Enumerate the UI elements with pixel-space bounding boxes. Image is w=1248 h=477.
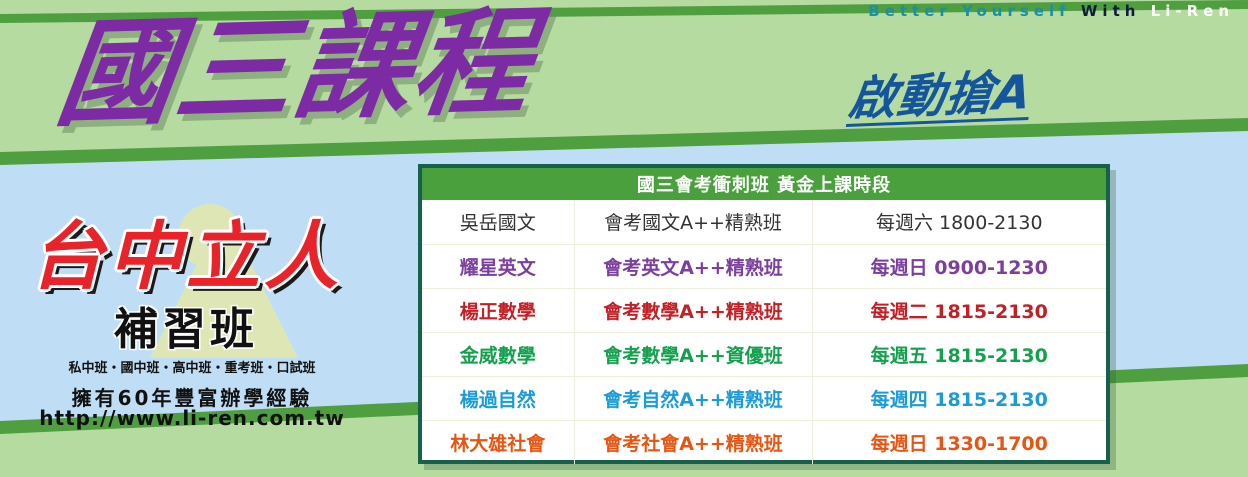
table-row: 林大雄社會會考社會A++精熟班每週日 1330-1700	[422, 420, 1106, 464]
cell-teacher: 林大雄社會	[422, 420, 574, 464]
cell-time: 每週二 1815-2130	[812, 288, 1106, 332]
logo: 台中立人 補習班 私中班・國中班・高中班・重考班・口試班 擁有60年豐富辦學經驗…	[22, 210, 362, 425]
cell-teacher: 楊過自然	[422, 376, 574, 420]
page-title: 國三課程	[51, 5, 540, 134]
schedule-header: 國三會考衝刺班 黃金上課時段	[422, 168, 1106, 200]
table-body: 吳岳國文會考國文A++精熟班每週六 1800-2130耀星英文會考英文A++精熟…	[422, 200, 1106, 464]
cell-time: 每週日 0900-1230	[812, 244, 1106, 288]
table-row: 楊正數學會考數學A++精熟班每週二 1815-2130	[422, 288, 1106, 332]
table-row: 吳岳國文會考國文A++精熟班每週六 1800-2130	[422, 200, 1106, 244]
tagline: Better Yourself With Li-Ren	[868, 2, 1234, 20]
cell-course: 會考數學A++精熟班	[574, 288, 812, 332]
schedule-table: 國三會考衝刺班 黃金上課時段 吳岳國文會考國文A++精熟班每週六 1800-21…	[418, 164, 1110, 464]
tagline-part-3: Li-Ren	[1151, 2, 1234, 20]
tagline-part-2: With	[1081, 2, 1141, 20]
table-row: 耀星英文會考英文A++精熟班每週日 0900-1230	[422, 244, 1106, 288]
cell-course: 會考英文A++精熟班	[574, 244, 812, 288]
cell-time: 每週四 1815-2130	[812, 376, 1106, 420]
cell-time: 每週五 1815-2130	[812, 332, 1106, 376]
cell-course: 會考數學A++資優班	[574, 332, 812, 376]
cell-course: 會考社會A++精熟班	[574, 420, 812, 464]
poster-canvas: Better Yourself With Li-Ren 國三課程 啟動搶A 台中…	[0, 0, 1248, 477]
cell-teacher: 金威數學	[422, 332, 574, 376]
cell-teacher: 楊正數學	[422, 288, 574, 332]
page-subtitle: 啟動搶A	[846, 69, 1034, 123]
tagline-part-1: Better Yourself	[868, 2, 1070, 20]
cell-teacher: 耀星英文	[422, 244, 574, 288]
logo-url[interactable]: http://www.li-ren.com.tw	[22, 406, 362, 430]
table-row: 楊過自然會考自然A++精熟班每週四 1815-2130	[422, 376, 1106, 420]
table-header-row: 國三會考衝刺班 黃金上課時段	[422, 168, 1106, 200]
cell-time: 每週六 1800-2130	[812, 200, 1106, 244]
logo-classes: 私中班・國中班・高中班・重考班・口試班	[42, 357, 342, 376]
cell-course: 會考國文A++精熟班	[574, 200, 812, 244]
cell-teacher: 吳岳國文	[422, 200, 574, 244]
logo-name: 台中立人	[30, 220, 342, 294]
cell-course: 會考自然A++精熟班	[574, 376, 812, 420]
logo-type: 補習班	[114, 308, 258, 352]
cell-time: 每週日 1330-1700	[812, 420, 1106, 464]
table-row: 金威數學會考數學A++資優班每週五 1815-2130	[422, 332, 1106, 376]
